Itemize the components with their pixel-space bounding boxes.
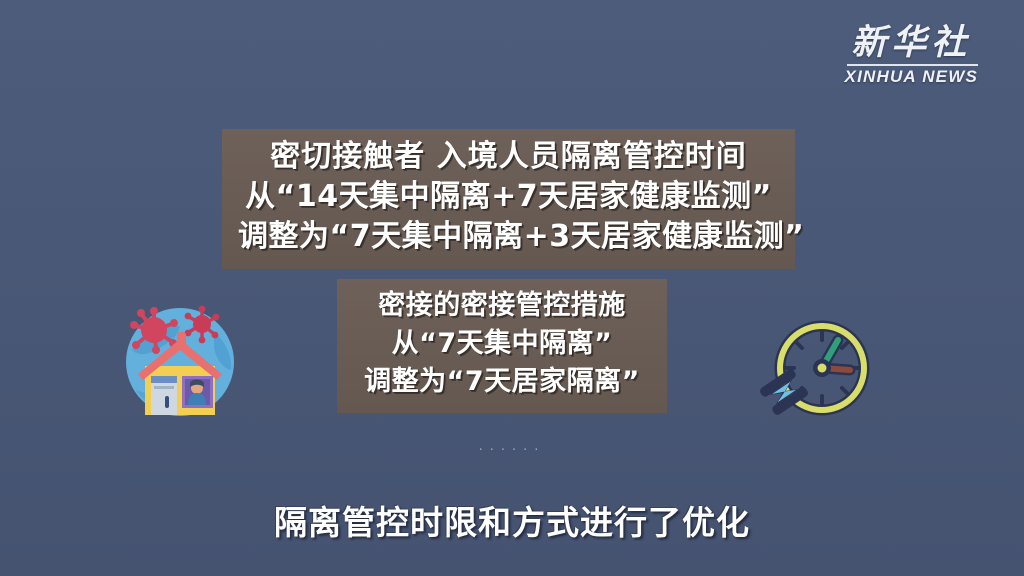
logo-chinese-text: 新华社: [845, 26, 978, 61]
home-quarantine-illustration: [118, 298, 242, 422]
subtitle-caption: 隔离管控时限和方式进行了优化: [0, 496, 1024, 544]
xinhua-news-logo: 新华社 XINHUA NEWS: [845, 26, 978, 85]
secondary-panel-line-2: 从“7天集中隔离”: [353, 325, 651, 363]
video-frame: 新华社 XINHUA NEWS 密切接触者 入境人员隔离管控时间 从“14天集中…: [0, 0, 1024, 576]
primary-panel-line-1: 密切接触者 入境人员隔离管控时间: [238, 137, 779, 177]
logo-underline: [847, 64, 978, 66]
logo-english-text: XINHUA NEWS: [845, 68, 978, 85]
primary-info-panel: 密切接触者 入境人员隔离管控时间 从“14天集中隔离+7天居家健康监测” 调整为…: [222, 129, 795, 269]
primary-panel-line-3: 调整为“7天集中隔离+3天居家健康监测”: [238, 217, 779, 257]
primary-panel-line-2: 从“14天集中隔离+7天居家健康监测”: [238, 177, 779, 217]
clock-hourglass-illustration: [746, 318, 874, 422]
ellipsis-text: ······: [0, 443, 1024, 458]
secondary-panel-line-1: 密接的密接管控措施: [353, 287, 651, 325]
secondary-panel-line-3: 调整为“7天居家隔离”: [353, 363, 651, 401]
secondary-info-panel: 密接的密接管控措施 从“7天集中隔离” 调整为“7天居家隔离”: [337, 279, 667, 413]
